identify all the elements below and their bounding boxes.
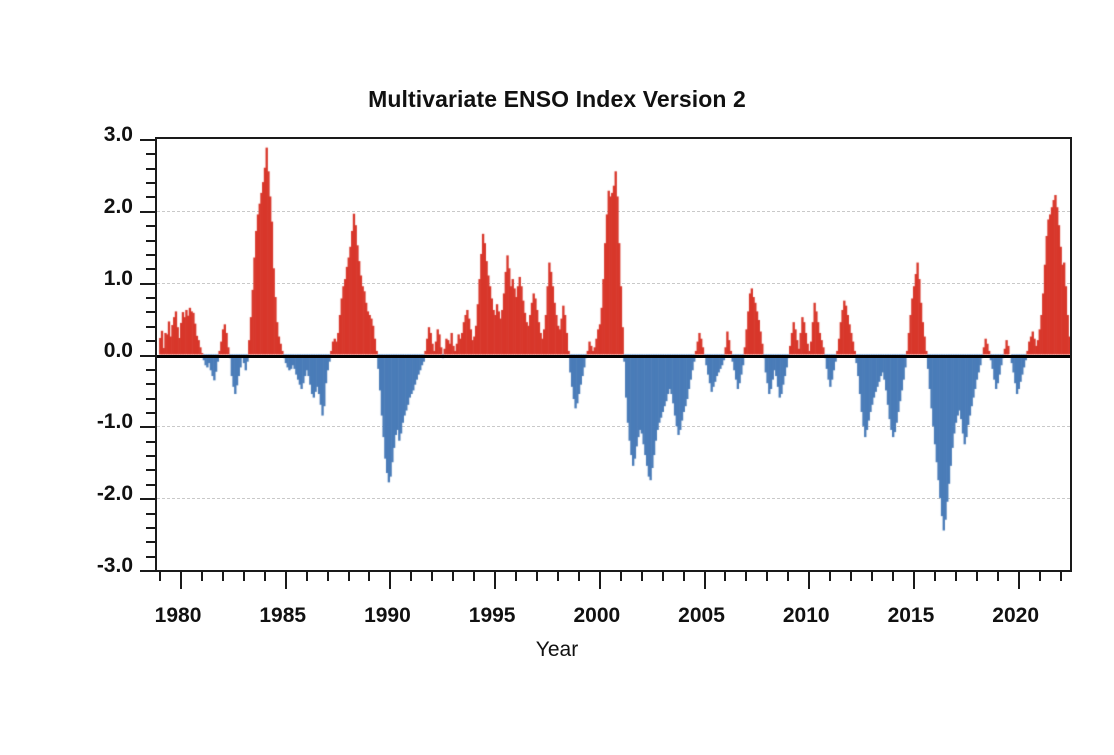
x-tick-minor	[536, 570, 538, 581]
x-tick-major	[285, 570, 287, 589]
x-tick-major	[704, 570, 706, 589]
y-tick-minor	[146, 225, 157, 227]
x-tick-major	[1018, 570, 1020, 589]
x-tick-minor	[159, 570, 161, 581]
y-tick-major	[140, 498, 157, 500]
y-tick-label: 3.0	[49, 123, 133, 147]
y-tick-minor	[146, 326, 157, 328]
x-tick-minor	[620, 570, 622, 581]
x-tick-minor	[243, 570, 245, 581]
x-tick-minor	[976, 570, 978, 581]
y-tick-label: -3.0	[49, 554, 133, 578]
y-tick-minor	[146, 168, 157, 170]
x-tick-minor	[348, 570, 350, 581]
x-tick-label: 2000	[552, 604, 642, 628]
x-tick-minor	[264, 570, 266, 581]
page-title: Multivariate ENSO Index Version 2	[0, 86, 1114, 113]
y-tick-minor	[146, 541, 157, 543]
x-tick-major	[389, 570, 391, 589]
x-tick-label: 2015	[866, 604, 956, 628]
chart-figure: Multivariate ENSO Index Version 2 MEI.v2…	[0, 0, 1114, 755]
x-tick-minor	[201, 570, 203, 581]
x-tick-major	[808, 570, 810, 589]
x-tick-minor	[724, 570, 726, 581]
x-tick-major	[494, 570, 496, 589]
x-tick-minor	[431, 570, 433, 581]
x-tick-minor	[1039, 570, 1041, 581]
x-tick-minor	[578, 570, 580, 581]
x-tick-major	[913, 570, 915, 589]
y-tick-major	[140, 355, 157, 357]
x-tick-major	[180, 570, 182, 589]
x-tick-label: 2020	[971, 604, 1061, 628]
x-tick-label: 1985	[238, 604, 328, 628]
x-tick-minor	[473, 570, 475, 581]
y-tick-minor	[146, 340, 157, 342]
y-tick-label: 2.0	[49, 195, 133, 219]
x-tick-label: 1980	[133, 604, 223, 628]
x-tick-minor	[515, 570, 517, 581]
x-tick-minor	[892, 570, 894, 581]
y-tick-minor	[146, 196, 157, 198]
y-tick-minor	[146, 297, 157, 299]
x-tick-minor	[410, 570, 412, 581]
x-tick-minor	[745, 570, 747, 581]
x-tick-label: 2010	[761, 604, 851, 628]
x-tick-minor	[452, 570, 454, 581]
y-tick-major	[140, 211, 157, 213]
x-tick-minor	[850, 570, 852, 581]
y-tick-major	[140, 283, 157, 285]
x-tick-minor	[368, 570, 370, 581]
y-tick-minor	[146, 441, 157, 443]
x-tick-label: 2005	[657, 604, 747, 628]
y-tick-label: -1.0	[49, 410, 133, 434]
x-tick-minor	[306, 570, 308, 581]
x-tick-minor	[641, 570, 643, 581]
x-tick-label: 1990	[342, 604, 432, 628]
x-tick-minor	[662, 570, 664, 581]
x-axis-title: Year	[0, 638, 1114, 662]
y-tick-label: 0.0	[49, 339, 133, 363]
y-tick-major	[140, 426, 157, 428]
y-tick-minor	[146, 240, 157, 242]
x-tick-label: 1995	[447, 604, 537, 628]
y-tick-minor	[146, 153, 157, 155]
x-tick-minor	[871, 570, 873, 581]
x-tick-minor	[683, 570, 685, 581]
x-tick-major	[599, 570, 601, 589]
x-tick-minor	[934, 570, 936, 581]
y-tick-minor	[146, 268, 157, 270]
y-tick-label: -2.0	[49, 482, 133, 506]
y-tick-minor	[146, 556, 157, 558]
x-tick-minor	[1060, 570, 1062, 581]
y-tick-major	[140, 139, 157, 141]
y-tick-minor	[146, 369, 157, 371]
x-tick-minor	[997, 570, 999, 581]
x-tick-minor	[766, 570, 768, 581]
y-tick-minor	[146, 383, 157, 385]
y-tick-major	[140, 570, 157, 572]
x-tick-minor	[829, 570, 831, 581]
y-tick-minor	[146, 182, 157, 184]
y-tick-minor	[146, 455, 157, 457]
zero-baseline	[157, 355, 1070, 358]
y-tick-minor	[146, 412, 157, 414]
x-tick-minor	[557, 570, 559, 581]
y-tick-minor	[146, 398, 157, 400]
y-tick-minor	[146, 527, 157, 529]
x-tick-minor	[327, 570, 329, 581]
x-tick-minor	[222, 570, 224, 581]
y-tick-minor	[146, 484, 157, 486]
y-tick-minor	[146, 513, 157, 515]
x-tick-minor	[787, 570, 789, 581]
y-tick-minor	[146, 469, 157, 471]
plot-area	[155, 137, 1072, 572]
y-tick-minor	[146, 254, 157, 256]
x-tick-minor	[955, 570, 957, 581]
y-tick-minor	[146, 311, 157, 313]
y-tick-label: 1.0	[49, 267, 133, 291]
